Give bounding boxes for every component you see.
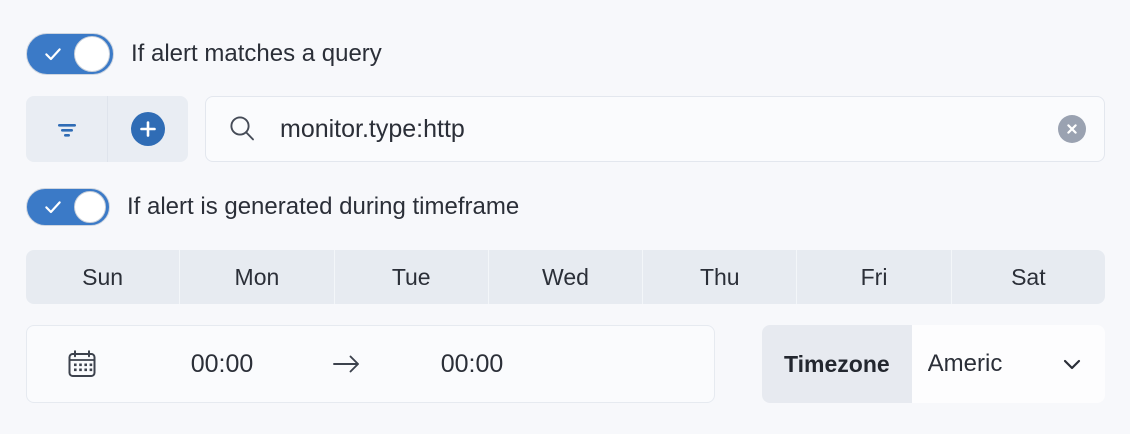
- timezone-label: Timezone: [762, 325, 912, 403]
- query-search-field[interactable]: monitor.type:http: [205, 96, 1105, 162]
- calendar-icon: [63, 345, 101, 383]
- day-tab-mon[interactable]: Mon: [179, 250, 333, 304]
- query-filter-button-group: [26, 96, 188, 162]
- arrow-right-icon: [330, 351, 364, 377]
- check-icon: [43, 197, 63, 217]
- day-tab-sun[interactable]: Sun: [26, 250, 179, 304]
- search-input[interactable]: monitor.type:http: [280, 115, 1058, 144]
- start-time-input[interactable]: 00:00: [137, 350, 307, 379]
- query-condition-row: If alert matches a query: [26, 33, 382, 75]
- check-icon: [43, 44, 63, 64]
- calendar-button[interactable]: [27, 345, 137, 383]
- close-icon: [1064, 121, 1080, 137]
- timezone-value: Americ: [928, 350, 1003, 378]
- day-tab-sat[interactable]: Sat: [951, 250, 1105, 304]
- day-tab-tue[interactable]: Tue: [334, 250, 488, 304]
- add-filter-button[interactable]: [107, 96, 188, 162]
- day-of-week-selector: Sun Mon Tue Wed Thu Fri Sat: [26, 250, 1105, 304]
- timeframe-condition-toggle[interactable]: [26, 188, 110, 226]
- alert-conditions-panel: If alert matches a query monitor.type:ht…: [0, 0, 1130, 434]
- query-condition-label: If alert matches a query: [131, 42, 382, 66]
- toggle-knob: [74, 36, 110, 72]
- clear-search-button[interactable]: [1058, 115, 1086, 143]
- day-tab-wed[interactable]: Wed: [488, 250, 642, 304]
- timeframe-condition-label: If alert is generated during timeframe: [127, 195, 519, 219]
- search-icon: [226, 113, 258, 145]
- toggle-knob: [74, 191, 106, 223]
- timezone-selector[interactable]: Timezone Americ: [762, 325, 1105, 403]
- filter-button[interactable]: [26, 96, 107, 162]
- day-tab-fri[interactable]: Fri: [796, 250, 950, 304]
- time-range-field[interactable]: 00:00 00:00: [26, 325, 715, 403]
- timeframe-condition-row: If alert is generated during timeframe: [26, 188, 519, 226]
- end-time-input[interactable]: 00:00: [387, 350, 557, 379]
- filter-icon: [53, 115, 81, 143]
- range-separator: [307, 351, 387, 377]
- chevron-down-icon: [1057, 349, 1087, 379]
- plus-icon: [131, 112, 165, 146]
- timezone-dropdown[interactable]: Americ: [912, 325, 1105, 403]
- day-tab-thu[interactable]: Thu: [642, 250, 796, 304]
- query-condition-toggle[interactable]: [26, 33, 114, 75]
